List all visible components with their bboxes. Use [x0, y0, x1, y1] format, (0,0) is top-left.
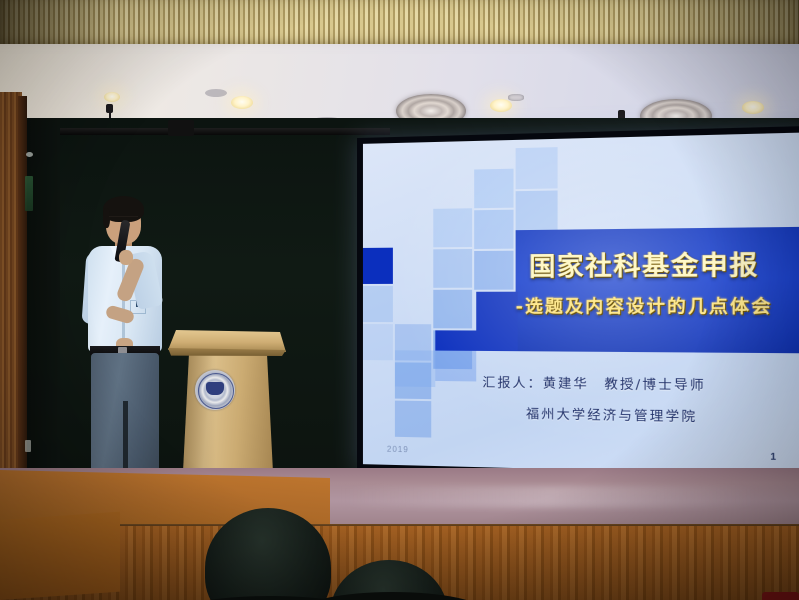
overhead-truss-bar — [60, 128, 390, 135]
ceiling-downlight — [231, 96, 253, 109]
slide-mosaic-square — [516, 147, 558, 189]
slide-year-footer: 2019 — [387, 445, 409, 455]
slide-mosaic-square — [363, 324, 393, 360]
presentation-photo: 国家社科基金申报 -选题及内容设计的几点体会 汇报人：黄建华 教授/博士导师 福… — [0, 0, 799, 600]
seal-center-device — [206, 382, 224, 395]
slide-title: 国家社科基金申报 — [529, 244, 759, 283]
ceiling-pendant-speaker — [106, 104, 113, 113]
slide-mosaic-square — [363, 248, 393, 284]
slide-title-band-step — [435, 330, 478, 351]
overhead-truss-fixture — [168, 120, 194, 136]
slide-title-band-step — [476, 292, 517, 351]
audience-seat-back — [762, 592, 799, 600]
projection-screen: 国家社科基金申报 -选题及内容设计的几点体会 汇报人：黄建华 教授/博士导师 福… — [363, 132, 799, 475]
ceiling-downlight — [104, 92, 120, 102]
ceiling-slat-shadow-left — [0, 0, 120, 50]
slide-mosaic-square — [474, 169, 513, 209]
slide-mosaic-square — [516, 190, 558, 232]
slide-mosaic-square — [433, 249, 472, 288]
wall-marker-light — [26, 152, 33, 157]
wall-exit-light — [25, 176, 33, 211]
slide-page-number: 1 — [770, 451, 776, 462]
speaker-right-hand — [119, 250, 133, 265]
slide-mosaic-square — [363, 286, 393, 322]
slide-mosaic-square — [433, 290, 472, 329]
ceiling-downlight — [742, 101, 764, 114]
ceiling-vent-slot — [508, 94, 524, 101]
university-seal-icon — [195, 370, 235, 410]
slide-mosaic-square — [395, 401, 431, 438]
slide-mosaic-square — [474, 251, 513, 290]
ceiling-downlight — [490, 99, 512, 112]
slide-subtitle: -选题及内容设计的几点体会 — [516, 291, 773, 318]
stage-front-panel-left — [0, 512, 120, 600]
projection-screen-frame: 国家社科基金申报 -选题及内容设计的几点体会 汇报人：黄建华 教授/博士导师 福… — [357, 126, 799, 482]
wall-switch-plate — [25, 440, 31, 452]
slide-presenter-line: 汇报人：黄建华 教授/博士导师 — [482, 371, 705, 393]
slide-mosaic-square — [433, 208, 472, 247]
slide-mosaic-square — [435, 351, 476, 382]
ceiling-fixture-dot — [205, 89, 227, 97]
slide-affiliation-line: 福州大学经济与管理学院 — [526, 403, 697, 426]
stage-floor-reflection — [340, 486, 760, 508]
slide-mosaic-square — [474, 210, 513, 249]
slide-mosaic-square — [395, 350, 435, 387]
ceiling-slat-shadow-right — [639, 0, 799, 50]
